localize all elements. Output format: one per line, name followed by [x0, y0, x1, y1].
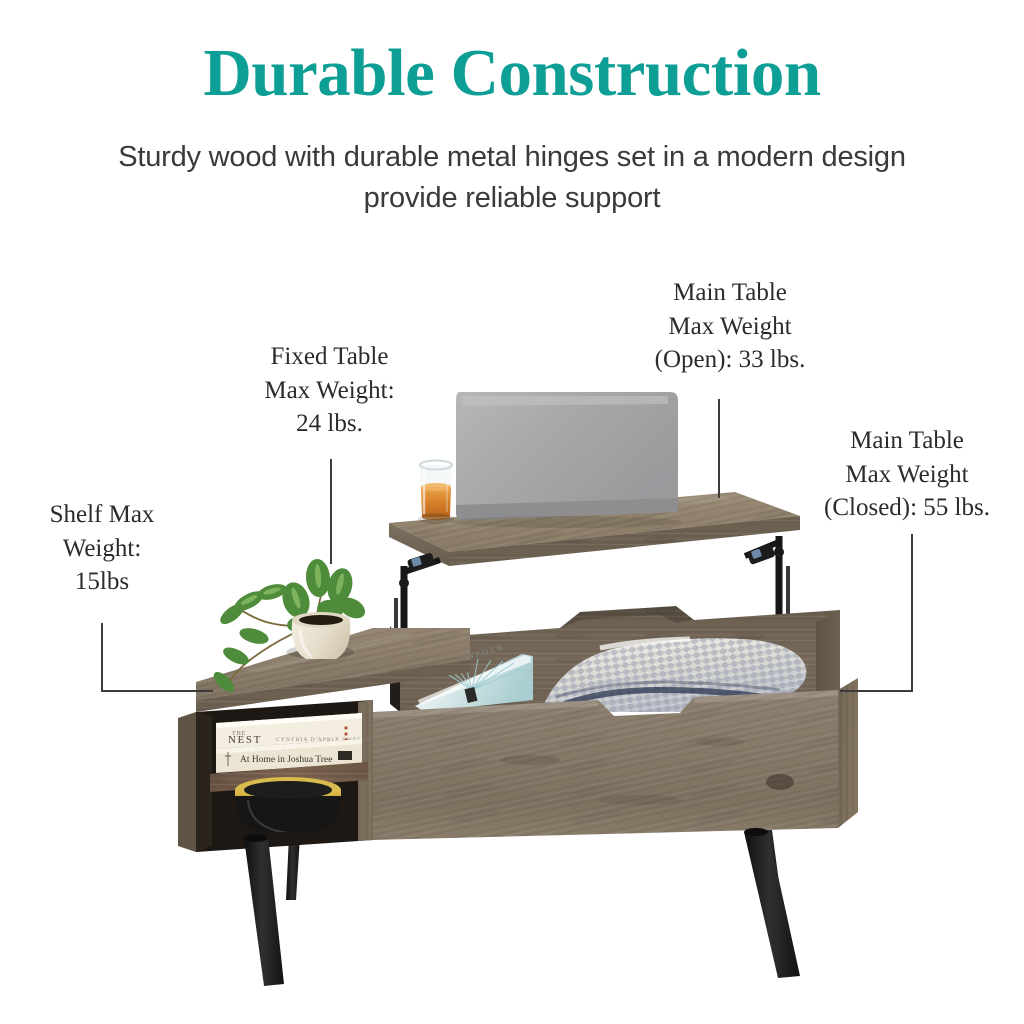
svg-text:NEST: NEST — [228, 734, 262, 746]
leader-line-main-table-closed-vertical — [911, 534, 913, 692]
svg-text:At Home in Joshua Tree: At Home in Joshua Tree — [240, 755, 332, 765]
leader-line-main-table-open — [718, 399, 720, 498]
leader-line-fixed-table — [330, 459, 332, 564]
infographic-canvas: Durable Construction Sturdy wood with du… — [0, 0, 1024, 1024]
callout-main-table-closed: Main Table Max Weight (Closed): 55 lbs. — [786, 424, 1024, 525]
leader-line-main-table-closed-horizontal — [840, 690, 913, 692]
open-shelf: THE NEST CYNTHIA D'APRIX SWEENEY At Home… — [178, 700, 376, 852]
callout-shelf: Shelf Max Weight: 15lbs — [2, 498, 202, 599]
table-leg-front-right — [744, 828, 800, 978]
laptop — [450, 392, 682, 528]
callout-main-table-open: Main Table Max Weight (Open): 33 lbs. — [585, 276, 875, 377]
table-leg-front-left — [244, 834, 284, 986]
callout-fixed-table: Fixed Table Max Weight: 24 lbs. — [222, 340, 437, 441]
leader-line-shelf-horizontal — [101, 690, 213, 692]
whiskey-glass — [418, 461, 454, 525]
leader-line-shelf-vertical — [101, 623, 103, 692]
